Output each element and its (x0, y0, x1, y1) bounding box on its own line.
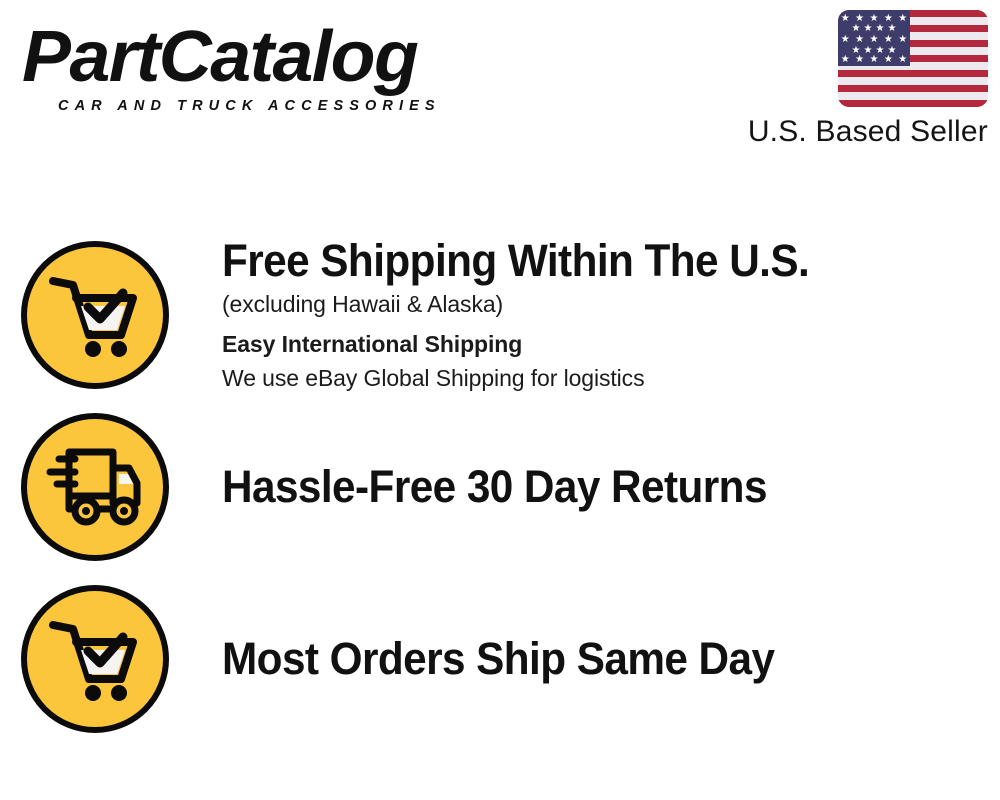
feature-icon-slot (0, 585, 190, 733)
feature-text-block: Free Shipping Within The U.S. (excluding… (190, 235, 1000, 395)
brand-tagline: CAR AND TRUCK ACCESSORIES (58, 98, 441, 114)
us-flag-icon: ★★★★★ ★★★★★★ ★★★★★ ★★★★★★ ★★★★★ (838, 10, 988, 107)
feature-text-block: Hassle-Free 30 Day Returns (190, 461, 1000, 513)
feature-row: Free Shipping Within The U.S. (excluding… (0, 230, 1000, 400)
flag-stripe (838, 77, 988, 84)
feature-row: Most Orders Ship Same Day (0, 574, 1000, 744)
feature-heading: Most Orders Ship Same Day (222, 633, 953, 685)
feature-subline: (excluding Hawaii & Alaska) (222, 287, 1000, 321)
flag-stripe (838, 70, 988, 77)
shopping-cart-check-icon (21, 585, 169, 733)
shopping-cart-check-icon (21, 241, 169, 389)
flag-stripe (838, 100, 988, 107)
banner-header: PartCatalog CAR AND TRUCK ACCESSORIES (0, 0, 1000, 170)
feature-row: Hassle-Free 30 Day Returns (0, 402, 1000, 572)
flag-canton: ★★★★★ ★★★★★★ ★★★★★ ★★★★★★ ★★★★★ (838, 10, 910, 66)
us-based-seller-label: U.S. Based Seller (718, 115, 988, 149)
feature-icon-slot (0, 413, 190, 561)
feature-heading: Hassle-Free 30 Day Returns (222, 461, 953, 513)
flag-stripe (838, 92, 988, 99)
feature-list: Free Shipping Within The U.S. (excluding… (0, 170, 1000, 800)
seller-info-banner: PartCatalog CAR AND TRUCK ACCESSORIES (0, 0, 1000, 800)
brand-logo: PartCatalog CAR AND TRUCK ACCESSORIES (22, 18, 522, 118)
flag-stripe (838, 85, 988, 92)
delivery-truck-icon (21, 413, 169, 561)
feature-text-block: Most Orders Ship Same Day (190, 633, 1000, 685)
feature-heading: Free Shipping Within The U.S. (222, 235, 953, 287)
feature-icon-slot (0, 241, 190, 389)
feature-subline: Easy International Shipping (222, 327, 1000, 361)
us-based-seller-badge: ★★★★★ ★★★★★★ ★★★★★ ★★★★★★ ★★★★★ (718, 10, 988, 149)
brand-wordmark: PartCatalog (22, 18, 532, 96)
feature-subline: We use eBay Global Shipping for logistic… (222, 361, 1000, 395)
